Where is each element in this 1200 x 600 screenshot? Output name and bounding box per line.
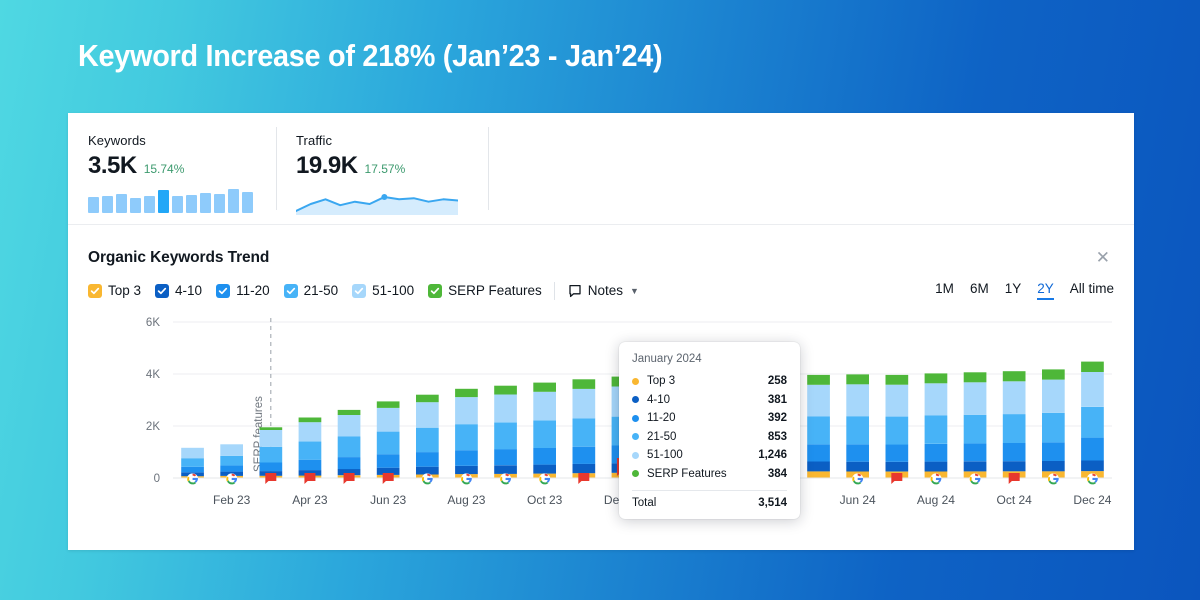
bar-segment[interactable]: [886, 462, 909, 472]
page-title: Keyword Increase of 218% (Jan’23 - Jan’2…: [78, 38, 662, 74]
bar-segment[interactable]: [925, 373, 948, 383]
note-flag-icon[interactable]: [265, 473, 276, 484]
tooltip-series-label: 21-50: [647, 431, 676, 443]
bar-segment[interactable]: [494, 386, 517, 395]
tooltip-total-row: Total 3,514: [632, 497, 787, 509]
bar-segment[interactable]: [494, 449, 517, 465]
bar-segment[interactable]: [1042, 380, 1065, 413]
sparkline-bar: [200, 193, 211, 213]
stat-delta-traffic: 17.57%: [365, 162, 406, 176]
sparkline-bar: [172, 196, 183, 213]
bar-segment[interactable]: [1081, 460, 1104, 471]
range-1m[interactable]: 1M: [935, 281, 954, 300]
notes-label: Notes: [588, 283, 623, 298]
bar-segment[interactable]: [573, 418, 596, 446]
bar-segment[interactable]: [220, 456, 243, 466]
bar-segment[interactable]: [338, 410, 361, 415]
bar-segment[interactable]: [807, 444, 830, 461]
bar-segment[interactable]: [1003, 414, 1026, 443]
tooltip-series-label: 51-100: [647, 449, 683, 461]
legend-item-21-50[interactable]: 21-50: [284, 283, 339, 298]
legend-item-11-20[interactable]: 11-20: [216, 283, 270, 298]
bar-segment[interactable]: [533, 420, 556, 448]
bar-segment[interactable]: [494, 422, 517, 449]
sparkline-bar: [116, 194, 127, 213]
bar-segment[interactable]: [416, 467, 439, 475]
note-flag-icon[interactable]: [344, 473, 355, 484]
stat-card-traffic[interactable]: Traffic 19.9K 17.57%: [276, 113, 496, 224]
x-axis-tick-label: Apr 23: [292, 493, 328, 507]
bar-segment[interactable]: [455, 397, 478, 424]
bar-segment[interactable]: [533, 465, 556, 474]
range-1y[interactable]: 1Y: [1005, 281, 1022, 300]
tooltip-color-dot: [632, 452, 639, 459]
x-axis-tick-label: Aug 23: [447, 493, 485, 507]
stat-value-row-keywords: 3.5K 15.74%: [88, 152, 276, 180]
tooltip-series-value: 258: [768, 375, 787, 387]
bar-segment[interactable]: [416, 452, 439, 467]
bar-segment[interactable]: [1081, 438, 1104, 461]
stat-value-row-traffic: 19.9K 17.57%: [296, 152, 496, 180]
bar-segment[interactable]: [338, 457, 361, 469]
tooltip-series-value: 384: [768, 468, 787, 480]
x-axis-tick-label: Feb 23: [213, 493, 251, 507]
bar-segment[interactable]: [338, 437, 361, 458]
tooltip-total-label: Total: [632, 497, 656, 509]
range-6m[interactable]: 6M: [970, 281, 989, 300]
bar-segment[interactable]: [299, 460, 322, 470]
bar-segment[interactable]: [807, 417, 830, 445]
bar-segment[interactable]: [807, 375, 830, 385]
bar-segment[interactable]: [377, 454, 400, 468]
checkbox-icon[interactable]: [428, 284, 442, 298]
bar-segment[interactable]: [807, 471, 830, 478]
bar-segment[interactable]: [416, 395, 439, 403]
bar-segment[interactable]: [181, 448, 204, 458]
bar-segment[interactable]: [299, 442, 322, 460]
tooltip-title: January 2024: [632, 353, 787, 365]
bar-segment[interactable]: [1042, 461, 1065, 471]
stat-label-keywords: Keywords: [88, 133, 276, 148]
tooltip-series-label: 4-10: [647, 394, 670, 406]
bar-segment[interactable]: [377, 401, 400, 408]
tooltip-series-value: 1,246: [758, 449, 787, 461]
bar-segment[interactable]: [964, 372, 987, 382]
bar-segment[interactable]: [455, 466, 478, 474]
bar-segment[interactable]: [220, 444, 243, 455]
tooltip-row: 4-10381: [632, 391, 787, 410]
bar-segment[interactable]: [573, 464, 596, 473]
bar-segment[interactable]: [964, 415, 987, 444]
legend-item-4-10[interactable]: 4-10: [155, 283, 202, 298]
bar-segment[interactable]: [1003, 371, 1026, 381]
google-update-icon[interactable]: [461, 473, 472, 484]
legend-label: 21-50: [304, 283, 339, 298]
bar-segment[interactable]: [338, 415, 361, 437]
x-axis-tick-label: Jun 24: [840, 493, 876, 507]
note-flag-icon: [568, 284, 582, 298]
bar-segment[interactable]: [846, 374, 869, 384]
bar-segment[interactable]: [964, 443, 987, 461]
tooltip-color-dot: [632, 470, 639, 477]
bar-segment[interactable]: [964, 461, 987, 471]
bar-segment[interactable]: [1042, 442, 1065, 461]
tooltip-color-dot: [632, 396, 639, 403]
google-update-icon[interactable]: [930, 473, 941, 484]
bar-segment[interactable]: [925, 383, 948, 415]
bar-segment[interactable]: [964, 382, 987, 415]
tooltip-series-value: 853: [768, 431, 787, 443]
bar-segment[interactable]: [807, 462, 830, 472]
bar-segment[interactable]: [1003, 461, 1026, 471]
bar-segment[interactable]: [1081, 362, 1104, 372]
stats-strip: Keywords 3.5K 15.74% Traffic 19.9K 17.57…: [68, 113, 1134, 225]
tooltip-color-dot: [632, 433, 639, 440]
note-flag-icon[interactable]: [383, 473, 394, 484]
bar-segment[interactable]: [181, 458, 204, 467]
bar-segment[interactable]: [533, 383, 556, 392]
close-icon[interactable]: ✕: [1092, 247, 1114, 268]
bar-segment[interactable]: [1081, 407, 1104, 438]
series-legend: Top 34-1011-2021-5051-100SERP Features: [88, 283, 542, 298]
bar-segment[interactable]: [1042, 369, 1065, 379]
stat-value-traffic: 19.9K: [296, 152, 358, 180]
tooltip-row: 11-20392: [632, 409, 787, 428]
x-axis-tick-label: Oct 24: [997, 493, 1033, 507]
tooltip-color-dot: [632, 415, 639, 422]
google-update-icon[interactable]: [969, 473, 980, 484]
bar-segment[interactable]: [573, 379, 596, 389]
x-axis-tick-label: Aug 24: [917, 493, 955, 507]
sparkline-bar: [158, 190, 169, 213]
tooltip-row: 51-1001,246: [632, 446, 787, 465]
stacked-bar-chart[interactable]: 02K4K6KSERP features3Feb 23Apr 23Jun 23A…: [68, 314, 1134, 522]
x-axis-tick-label: Oct 23: [527, 493, 563, 507]
x-axis-tick-label: Jun 23: [370, 493, 406, 507]
bar-segment[interactable]: [886, 445, 909, 462]
tooltip-row: 21-50853: [632, 428, 787, 447]
bar-segment[interactable]: [377, 432, 400, 455]
tooltip-series-label: 11-20: [647, 412, 676, 424]
bar-segment[interactable]: [416, 428, 439, 452]
sparkline-bar: [130, 198, 141, 213]
bar-segment[interactable]: [846, 384, 869, 416]
sparkline-bar: [214, 194, 225, 213]
bar-segment[interactable]: [455, 424, 478, 450]
tooltip-row: Top 3258: [632, 372, 787, 391]
tooltip-separator: [632, 490, 787, 491]
bar-segment[interactable]: [846, 444, 869, 461]
bar-segment[interactable]: [260, 430, 283, 447]
google-update-icon[interactable]: [500, 473, 511, 484]
range-2y[interactable]: 2Y: [1037, 281, 1054, 300]
bar-segment[interactable]: [1003, 381, 1026, 414]
chart-tooltip: January 2024 Top 32584-1038111-2039221-5…: [619, 342, 800, 519]
y-axis-tick-label: 4K: [146, 369, 160, 381]
bar-segment[interactable]: [1081, 372, 1104, 407]
sparkline-bar: [144, 196, 155, 213]
bar-segment[interactable]: [846, 416, 869, 444]
google-update-icon[interactable]: [539, 473, 550, 484]
legend-label: 51-100: [372, 283, 414, 298]
range-all-time[interactable]: All time: [1070, 281, 1114, 300]
legend-label: 11-20: [236, 283, 270, 298]
bar-segment[interactable]: [533, 392, 556, 421]
bar-segment[interactable]: [494, 465, 517, 474]
google-update-icon[interactable]: [1048, 473, 1059, 484]
checkbox-icon[interactable]: [88, 284, 102, 298]
tooltip-total-value: 3,514: [758, 497, 787, 509]
tooltip-series-value: 381: [768, 394, 787, 406]
legend-label: Top 3: [108, 283, 141, 298]
bar-segment[interactable]: [1042, 413, 1065, 442]
google-update-icon[interactable]: [852, 473, 863, 484]
traffic-sparkline-area: [296, 189, 458, 215]
google-update-icon[interactable]: [226, 473, 237, 484]
legend-item-serp-features[interactable]: SERP Features: [428, 283, 542, 298]
stat-label-traffic: Traffic: [296, 133, 496, 148]
bar-segment[interactable]: [573, 447, 596, 464]
bar-segment[interactable]: [260, 427, 283, 430]
bar-segment[interactable]: [260, 447, 283, 463]
bar-segment[interactable]: [886, 417, 909, 445]
bar-segment[interactable]: [260, 463, 283, 472]
checkbox-icon[interactable]: [216, 284, 230, 298]
bar-segment[interactable]: [886, 375, 909, 385]
time-range-selector: 1M6M1Y2YAll time: [935, 281, 1114, 300]
bar-segment[interactable]: [377, 408, 400, 432]
bar-segment[interactable]: [299, 422, 322, 441]
bar-segment[interactable]: [494, 395, 517, 423]
checkbox-icon[interactable]: [284, 284, 298, 298]
stats-divider: [488, 127, 489, 210]
legend-item-top-3[interactable]: Top 3: [88, 283, 141, 298]
y-axis-tick-label: 6K: [146, 317, 160, 329]
bar-segment[interactable]: [886, 385, 909, 417]
tooltip-color-dot: [632, 378, 639, 385]
google-update-icon[interactable]: [422, 473, 433, 484]
bar-segment[interactable]: [925, 416, 948, 444]
stat-value-keywords: 3.5K: [88, 152, 137, 180]
bar-segment[interactable]: [181, 467, 204, 473]
note-flag-icon[interactable]: [891, 473, 902, 484]
chart-controls: Top 34-1011-2021-5051-100SERP Features N…: [68, 268, 1134, 300]
dashboard-panel: Keywords 3.5K 15.74% Traffic 19.9K 17.57…: [68, 113, 1134, 550]
tooltip-row: SERP Features384: [632, 465, 787, 484]
chevron-down-icon: ▼: [630, 286, 639, 296]
bar-segment[interactable]: [299, 418, 322, 423]
bar-segment[interactable]: [846, 462, 869, 472]
bar-segment[interactable]: [220, 465, 243, 471]
tooltip-rows: Top 32584-1038111-2039221-5085351-1001,2…: [632, 372, 787, 483]
bar-segment[interactable]: [1003, 443, 1026, 461]
y-axis-tick-label: 0: [154, 473, 160, 485]
google-update-icon[interactable]: [187, 473, 198, 484]
google-update-icon[interactable]: [1087, 473, 1098, 484]
bar-segment[interactable]: [455, 450, 478, 466]
sparkline-bar: [186, 195, 197, 213]
note-flag-icon[interactable]: [1009, 473, 1020, 484]
bar-segment[interactable]: [925, 462, 948, 472]
chart-card-header: Organic Keywords Trend ✕: [68, 225, 1134, 268]
checkbox-icon[interactable]: [155, 284, 169, 298]
checkbox-icon[interactable]: [352, 284, 366, 298]
stat-card-keywords[interactable]: Keywords 3.5K 15.74%: [68, 113, 276, 224]
tooltip-series-label: SERP Features: [647, 468, 727, 480]
legend-item-51-100[interactable]: 51-100: [352, 283, 414, 298]
bar-segment[interactable]: [925, 444, 948, 462]
sparkline-marker: [381, 194, 387, 200]
legend-label: 4-10: [175, 283, 202, 298]
stat-delta-keywords: 15.74%: [144, 162, 185, 176]
bar-segment[interactable]: [573, 389, 596, 418]
tooltip-series-label: Top 3: [647, 375, 675, 387]
keywords-sparkline-bars: [88, 189, 276, 213]
sparkline-bar: [88, 197, 99, 213]
note-flag-icon[interactable]: [578, 473, 589, 484]
legend-label: SERP Features: [448, 283, 542, 298]
tooltip-series-value: 392: [768, 412, 787, 424]
bar-segment[interactable]: [533, 448, 556, 465]
bar-segment[interactable]: [416, 402, 439, 428]
controls-divider: [554, 282, 555, 300]
chart-plot-area: 02K4K6KSERP features3Feb 23Apr 23Jun 23A…: [68, 314, 1134, 522]
bar-segment[interactable]: [455, 389, 478, 397]
sparkline-bar: [102, 196, 113, 213]
sparkline-bar: [228, 189, 239, 213]
bar-segment[interactable]: [807, 385, 830, 417]
chart-title: Organic Keywords Trend: [88, 249, 269, 267]
notes-dropdown[interactable]: Notes ▼: [568, 283, 639, 298]
x-axis-tick-label: Dec 24: [1073, 493, 1111, 507]
sparkline-bar: [242, 192, 253, 213]
y-axis-tick-label: 2K: [146, 421, 160, 433]
note-flag-icon[interactable]: [304, 473, 315, 484]
